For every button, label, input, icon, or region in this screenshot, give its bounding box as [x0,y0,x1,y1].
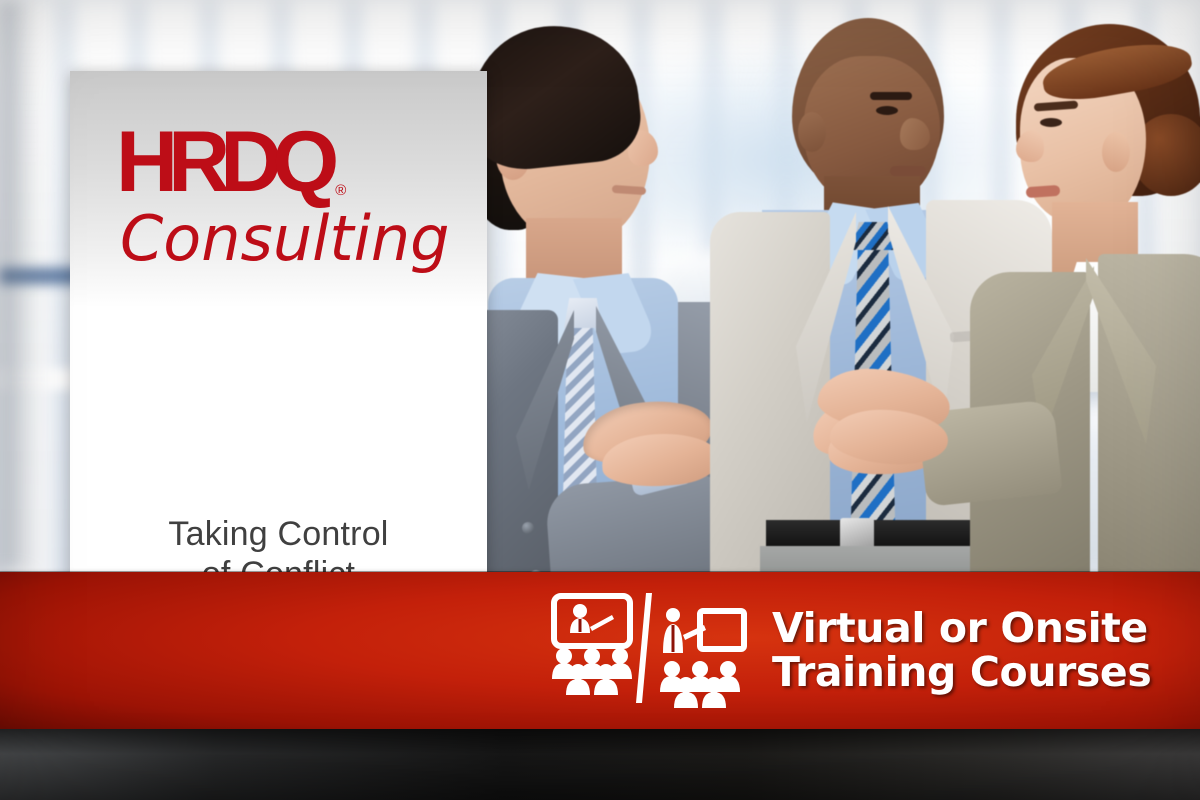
person-right-lips [1026,185,1061,198]
hrdq-wordmark: HRDQ® [116,123,346,202]
person-center-ear [798,112,826,152]
promotional-slide: HRDQ® Consulting Taking Control of Confl… [0,0,1200,800]
hrdq-tagline: Consulting [120,208,450,270]
banner-headline: Virtual or Onsite Training Courses [772,607,1151,694]
person-center-belt [766,520,982,548]
registered-trademark-icon: ® [335,182,346,199]
person-center-eye [876,106,898,115]
bottom-strip [0,729,1200,800]
person-center-lips [890,166,926,176]
course-title-line-1: Taking Control [168,515,388,553]
divider-slash-icon [636,593,652,703]
person-right [980,14,1200,580]
banner-headline-line-1: Virtual or Onsite [772,604,1148,652]
banner-icon-group [548,591,748,711]
person-center-tie-knot [852,222,894,250]
person-right-ear [1102,132,1130,172]
training-banner: Virtual or Onsite Training Courses [0,572,1200,729]
person-right-nose [1016,130,1044,162]
person-center-brow [870,92,912,100]
brand-logo: HRDQ® Consulting [70,123,487,270]
virtual-classroom-icon [552,596,632,695]
banner-content: Virtual or Onsite Training Courses [548,591,1151,711]
person-left-hair [463,18,645,175]
person-right-eye [1040,118,1062,127]
banner-headline-line-2: Training Courses [772,651,1151,694]
left-edge-shade [0,0,36,570]
hrdq-wordmark-text: HRDQ [116,114,329,210]
virtual-and-onsite-training-icon [548,591,748,711]
person-left-button-1 [522,522,534,534]
onsite-classroom-icon [660,608,744,708]
